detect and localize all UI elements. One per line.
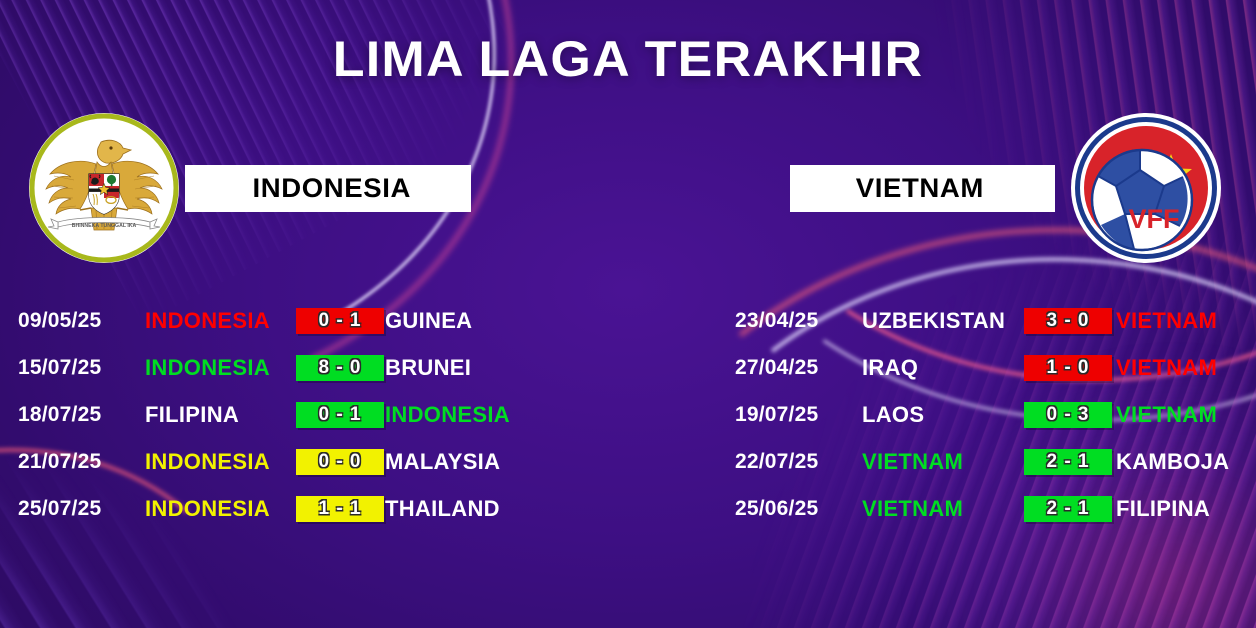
- match-away-team: THAILAND: [385, 496, 500, 522]
- page-title: LIMA LAGA TERAKHIR: [0, 30, 1256, 88]
- match-home-team: INDONESIA: [145, 308, 270, 334]
- match-score-badge: 0 - 0: [296, 449, 384, 475]
- match-score-badge: 1 - 1: [296, 496, 384, 522]
- team-name-left: INDONESIA: [253, 173, 412, 204]
- match-score-badge: 0 - 3: [1024, 402, 1112, 428]
- match-date: 27/04/25: [735, 356, 818, 380]
- match-row: 25/07/25INDONESIA1 - 1THAILAND: [0, 485, 620, 532]
- match-away-team: VIETNAM: [1116, 355, 1217, 381]
- match-home-team: LAOS: [862, 402, 924, 428]
- team-header-left: BHINNEKA TUNGGAL IKA INDONESIA: [28, 112, 468, 264]
- match-away-team: VIETNAM: [1116, 308, 1217, 334]
- match-home-team: INDONESIA: [145, 449, 270, 475]
- match-away-team: KAMBOJA: [1116, 449, 1229, 475]
- match-score-badge: 3 - 0: [1024, 308, 1112, 334]
- match-row: 15/07/25INDONESIA8 - 0BRUNEI: [0, 344, 620, 391]
- match-home-team: INDONESIA: [145, 355, 270, 381]
- match-home-team: UZBEKISTAN: [862, 308, 1005, 334]
- match-date: 25/07/25: [18, 497, 101, 521]
- match-away-team: MALAYSIA: [385, 449, 500, 475]
- match-row: 27/04/25IRAQ1 - 0VIETNAM: [716, 344, 1256, 391]
- match-away-team: BRUNEI: [385, 355, 471, 381]
- match-row: 25/06/25VIETNAM2 - 1FILIPINA: [716, 485, 1256, 532]
- team-name-plate-right: VIETNAM: [790, 165, 1055, 212]
- vff-crest: VFF: [1070, 112, 1222, 264]
- match-away-team: GUINEA: [385, 308, 472, 334]
- match-date: 18/07/25: [18, 403, 101, 427]
- match-date: 09/05/25: [18, 309, 101, 333]
- match-score-badge: 2 - 1: [1024, 496, 1112, 522]
- svg-text:BHINNEKA TUNGGAL IKA: BHINNEKA TUNGGAL IKA: [72, 223, 137, 229]
- match-row: 21/07/25INDONESIA0 - 0MALAYSIA: [0, 438, 620, 485]
- match-score-badge: 0 - 1: [296, 308, 384, 334]
- match-score-badge: 2 - 1: [1024, 449, 1112, 475]
- match-date: 25/06/25: [735, 497, 818, 521]
- graphic-canvas: LIMA LAGA TERAKHIR: [0, 0, 1256, 628]
- match-row: 22/07/25VIETNAM2 - 1KAMBOJA: [716, 438, 1256, 485]
- match-away-team: FILIPINA: [1116, 496, 1210, 522]
- match-away-team: VIETNAM: [1116, 402, 1217, 428]
- team-name-right: VIETNAM: [855, 173, 983, 204]
- match-date: 22/07/25: [735, 450, 818, 474]
- garuda-pancasila-crest: BHINNEKA TUNGGAL IKA: [28, 112, 180, 264]
- match-score-badge: 8 - 0: [296, 355, 384, 381]
- match-home-team: FILIPINA: [145, 402, 239, 428]
- match-date: 19/07/25: [735, 403, 818, 427]
- match-row: 09/05/25INDONESIA0 - 1GUINEA: [0, 297, 620, 344]
- match-score-badge: 1 - 0: [1024, 355, 1112, 381]
- match-score-badge: 0 - 1: [296, 402, 384, 428]
- match-row: 19/07/25LAOS0 - 3VIETNAM: [716, 391, 1256, 438]
- match-row: 18/07/25FILIPINA0 - 1INDONESIA: [0, 391, 620, 438]
- match-home-team: VIETNAM: [862, 496, 963, 522]
- team-name-plate-left: INDONESIA: [185, 165, 471, 212]
- match-date: 15/07/25: [18, 356, 101, 380]
- match-list-indonesia: 09/05/25INDONESIA0 - 1GUINEA15/07/25INDO…: [0, 297, 620, 532]
- svg-text:VFF: VFF: [1129, 204, 1180, 234]
- match-home-team: INDONESIA: [145, 496, 270, 522]
- match-row: 23/04/25UZBEKISTAN3 - 0VIETNAM: [716, 297, 1256, 344]
- match-home-team: IRAQ: [862, 355, 918, 381]
- team-header-right: VIETNAM: [782, 112, 1222, 264]
- match-away-team: INDONESIA: [385, 402, 510, 428]
- match-date: 23/04/25: [735, 309, 818, 333]
- match-date: 21/07/25: [18, 450, 101, 474]
- match-list-vietnam: 23/04/25UZBEKISTAN3 - 0VIETNAM27/04/25IR…: [716, 297, 1256, 532]
- match-home-team: VIETNAM: [862, 449, 963, 475]
